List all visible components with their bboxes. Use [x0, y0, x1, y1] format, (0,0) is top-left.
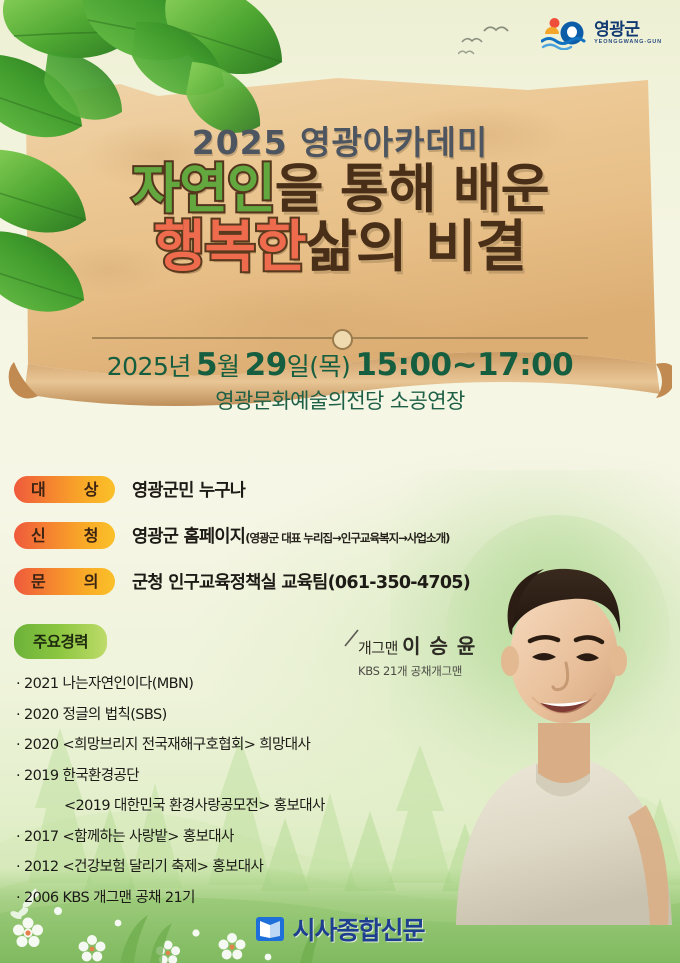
career-item-text: 2021 나는자연인이다(MBN) — [24, 676, 193, 692]
title-year-line: 2025 영광아카데미 — [0, 126, 680, 161]
date-time: 15:00~17:00 — [355, 347, 573, 383]
gov-logo: 영광군 YEONGGWANG-GUN — [541, 16, 662, 50]
speaker-name: 이 승 윤 — [402, 634, 476, 658]
bullet-icon: · — [16, 737, 20, 753]
gov-logo-name: 영광군 — [594, 21, 662, 38]
career-item: ·2020 <희망브리지 전국재해구호협회> 희망대사 — [16, 733, 416, 754]
info-value-subnote: (영광군 대표 누리집→인구교육복지→사업소개) — [245, 531, 449, 545]
title-highlight-happy: 행복한 — [154, 219, 306, 276]
bullet-icon: · — [16, 829, 20, 845]
poster-root: 영광군 YEONGGWANG-GUN 2025 영광아카데미 자연인 을 통해 … — [0, 0, 680, 963]
title-block: 2025 영광아카데미 자연인 을 통해 배운 행복한 삶의 비결 — [0, 126, 680, 276]
info-row: 신 청 영광군 홈페이지(영광군 대표 누리집→인구교육복지→사업소개) — [14, 522, 514, 549]
info-label-char-1: 신 — [31, 528, 45, 544]
title-line3-rest: 삶의 비결 — [305, 219, 526, 276]
career-item-text: 2020 정글의 법칙(SBS) — [24, 707, 167, 723]
info-rows: 대 상 영광군민 누구나 신 청 영광군 홈페이지(영광군 대표 누리집→인구교… — [14, 476, 514, 614]
career-item: ·2012 <건강보험 달리기 축제> 홍보대사 — [16, 855, 416, 876]
info-label-char-2: 의 — [84, 574, 98, 590]
date-month-unit: 월 — [217, 352, 240, 381]
info-value-apply: 영광군 홈페이지(영광군 대표 누리집→인구교육복지→사업소개) — [132, 523, 449, 548]
info-label-apply: 신 청 — [14, 522, 115, 549]
open-book-icon — [255, 915, 285, 943]
career-item-text: 2006 KBS 개그맨 공채 21기 — [24, 890, 195, 906]
career-badge: 주요경력 — [14, 624, 107, 659]
bullet-icon: · — [16, 768, 20, 784]
bullet-icon: · — [16, 676, 20, 692]
career-item-text: <2019 대한민국 환경사랑공모전> 홍보대사 — [64, 798, 325, 814]
date-year: 2025년 — [107, 352, 191, 381]
info-row: 문 의 군청 인구교육정책실 교육팀(061-350-4705) — [14, 568, 514, 595]
info-row: 대 상 영광군민 누구나 — [14, 476, 514, 503]
info-label-target: 대 상 — [14, 476, 115, 503]
date-day: 29 — [245, 347, 287, 383]
title-line-2: 자연인 을 통해 배운 — [0, 163, 680, 217]
info-label-contact: 문 의 — [14, 568, 115, 595]
footer-publisher-name: 시사종합신문 — [292, 911, 424, 947]
birds-icon — [458, 24, 528, 58]
info-label-char-2: 상 — [84, 482, 98, 498]
career-item: ·2020 정글의 법칙(SBS) — [16, 703, 416, 724]
info-value-target: 영광군민 누구나 — [132, 477, 245, 502]
bullet-icon: · — [16, 859, 20, 875]
speaker-role: 개그맨 — [358, 639, 402, 657]
info-value-text: 군청 인구교육정책실 교육팀(061-350-4705) — [132, 573, 470, 593]
gov-logo-text: 영광군 YEONGGWANG-GUN — [594, 21, 662, 46]
career-item-text: 2019 한국환경공단 — [24, 768, 139, 784]
date-day-unit: 일(목) — [287, 352, 351, 381]
career-item: <2019 대한민국 환경사랑공모전> 홍보대사 — [16, 794, 416, 815]
info-label-char-1: 대 — [31, 482, 45, 498]
info-value-contact: 군청 인구교육정책실 교육팀(061-350-4705) — [132, 569, 470, 594]
speaker-name-line: 개그맨 이 승 윤 — [358, 630, 558, 659]
career-list: ·2021 나는자연인이다(MBN) ·2020 정글의 법칙(SBS) ·20… — [16, 672, 416, 916]
info-label-char-1: 문 — [31, 574, 45, 590]
title-line2-rest: 을 통해 배운 — [275, 163, 549, 217]
title-highlight-natural: 자연인 — [132, 163, 275, 217]
date-month: 5 — [196, 347, 217, 383]
career-item: ·2017 <함께하는 사랑밭> 홍보대사 — [16, 825, 416, 846]
bullet-icon: · — [16, 890, 20, 906]
career-item-text: 2012 <건강보험 달리기 축제> 홍보대사 — [24, 859, 263, 875]
career-item: ·2021 나는자연인이다(MBN) — [16, 672, 416, 693]
venue-name: 영광문화예술의전당 소공연장 — [0, 385, 680, 415]
info-value-text: 영광군 홈페이지 — [132, 527, 245, 547]
footer-publisher: 시사종합신문 — [0, 911, 680, 947]
info-value-text: 영광군민 누구나 — [132, 481, 245, 501]
career-item-text: 2017 <함께하는 사랑밭> 홍보대사 — [24, 829, 234, 845]
gov-logo-roman: YEONGGWANG-GUN — [594, 40, 662, 46]
slash-icon — [344, 628, 360, 648]
sun-wave-circle-icon — [541, 16, 587, 50]
career-item: ·2006 KBS 개그맨 공채 21기 — [16, 886, 416, 907]
title-line-3: 행복한 삶의 비결 — [0, 219, 680, 276]
career-item-text: 2020 <희망브리지 전국재해구호협회> 희망대사 — [24, 737, 310, 753]
schedule-date-row: 2025년 5월 29일(목) 15:00~17:00 — [0, 347, 680, 383]
career-item: ·2019 한국환경공단 — [16, 764, 416, 785]
bullet-icon: · — [16, 707, 20, 723]
info-label-char-2: 청 — [84, 528, 98, 544]
